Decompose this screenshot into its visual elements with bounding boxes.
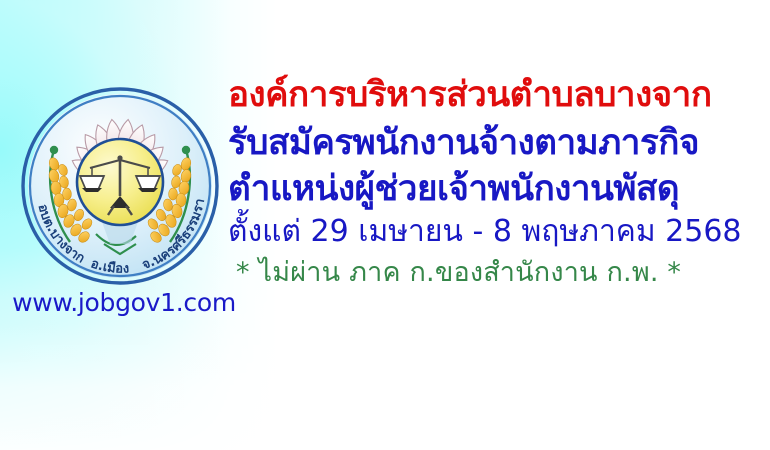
- organization-emblem: อบต.บางจาก อ.เมือง จ.นครศรีธรรมราช: [18, 84, 222, 288]
- emblem-svg: อบต.บางจาก อ.เมือง จ.นครศรีธรรมราช: [18, 84, 222, 288]
- announcement-line-recruitment: รับสมัครพนักงานจ้างตามภารกิจ: [228, 126, 764, 172]
- announcement-line-organization: องค์การบริหารส่วนตำบลบางจาก: [228, 78, 764, 126]
- recruitment-announcement-banner: อบต.บางจาก อ.เมือง จ.นครศรีธรรมราช www.j…: [0, 0, 770, 450]
- website-url[interactable]: www.jobgov1.com: [8, 288, 240, 317]
- announcement-line-position: ตำแหน่งผู้ช่วยเจ้าพนักงานพัสดุ: [228, 172, 764, 217]
- announcement-line-note: * ไม่ผ่าน ภาค ก.ของสำนักงาน ก.พ. *: [228, 259, 764, 286]
- announcement-line-dates: ตั้งแต่ 29 เมษายน - 8 พฤษภาคม 2568: [228, 217, 764, 259]
- announcement-text-block: องค์การบริหารส่วนตำบลบางจาก รับสมัครพนัก…: [228, 78, 764, 286]
